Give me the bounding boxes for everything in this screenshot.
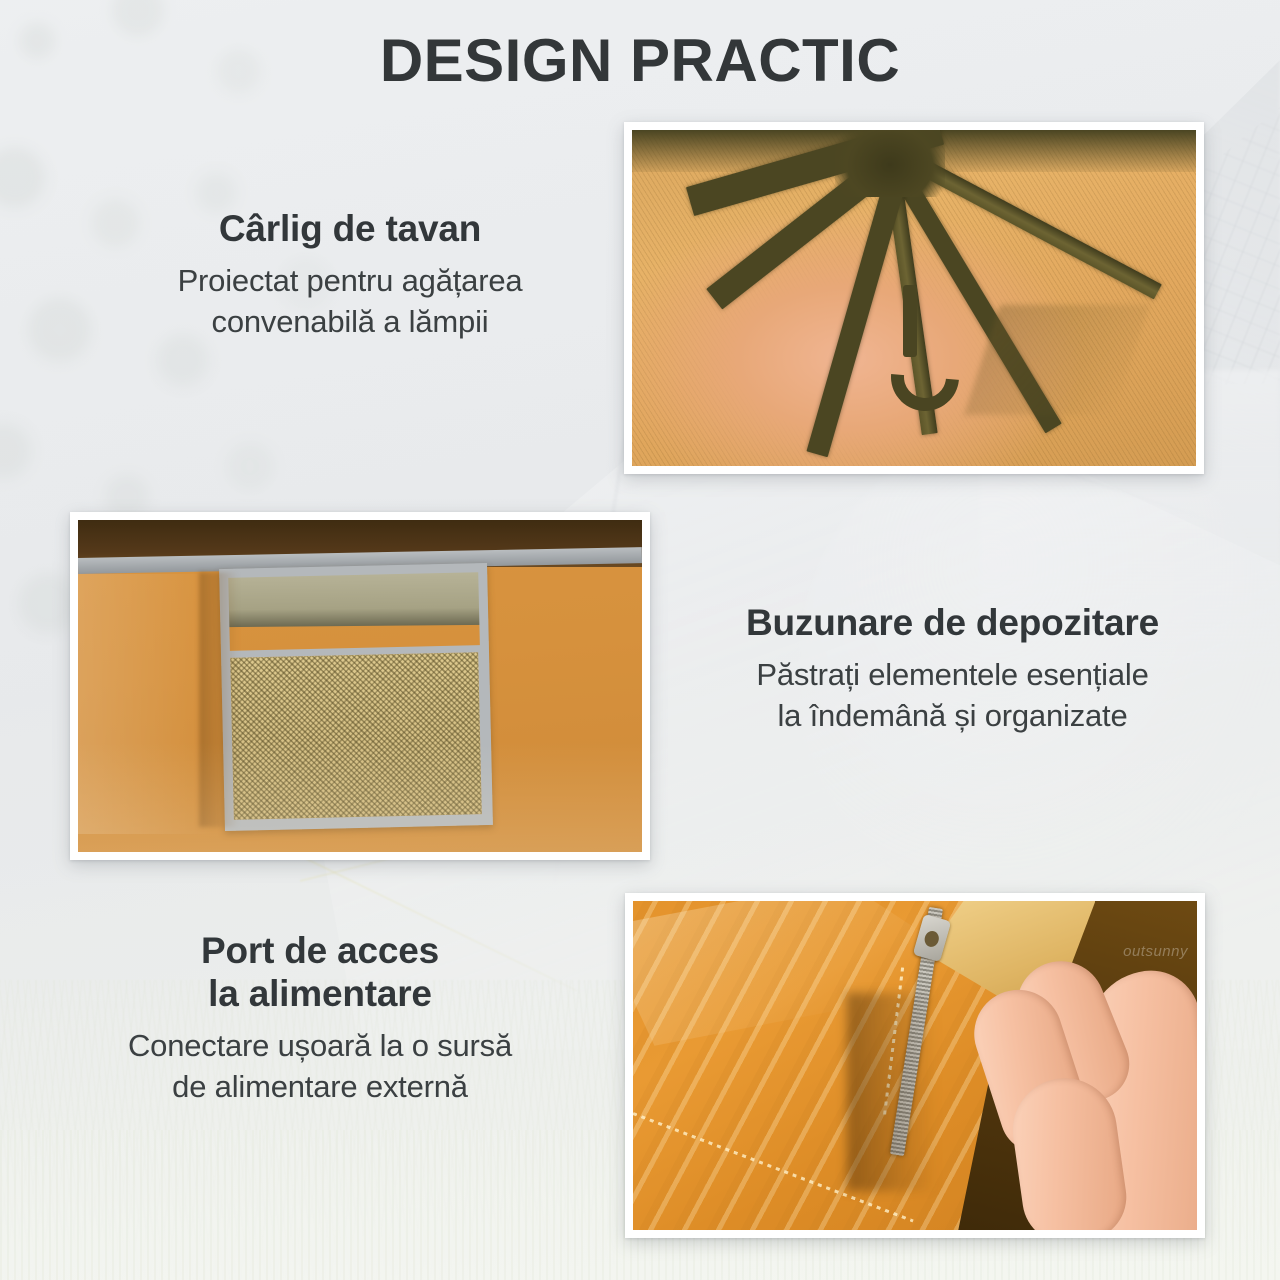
hand-shadow xyxy=(847,993,937,1190)
feature-text-storage-pockets: Buzunare de depozitare Păstrați elemente… xyxy=(655,602,1250,737)
feature-text-power-port: Port de acces la alimentare Conectare uș… xyxy=(30,930,610,1108)
feature-heading-storage-pockets: Buzunare de depozitare xyxy=(655,602,1250,645)
power-access-port-photo: outsunny xyxy=(633,901,1197,1230)
tent-wall-sheen xyxy=(78,742,642,852)
feature-heading-ceiling-hook: Cârlig de tavan xyxy=(45,208,655,251)
feature-subtext-storage-pockets: Păstrați elementele esențiale la îndemân… xyxy=(655,655,1250,737)
photo-frame-power-port: outsunny xyxy=(625,893,1205,1238)
feature-subtext-ceiling-hook: Proiectat pentru agățarea convenabilă a … xyxy=(45,261,655,343)
hand xyxy=(960,954,1197,1230)
tent-strap-apex xyxy=(835,130,945,197)
storage-pocket-photo xyxy=(78,520,642,852)
page-title: DESIGN PRACTIC xyxy=(0,26,1280,95)
brand-watermark: outsunny xyxy=(1123,943,1188,960)
ceiling-hook-photo xyxy=(632,130,1196,466)
feature-heading-power-port: Port de acces la alimentare xyxy=(30,930,610,1016)
feature-subtext-power-port: Conectare ușoară la o sursă de alimentar… xyxy=(30,1026,610,1108)
feature-text-ceiling-hook: Cârlig de tavan Proiectat pentru agățare… xyxy=(45,208,655,343)
ceiling-hook-icon xyxy=(889,285,945,405)
photo-frame-ceiling-hook xyxy=(624,122,1204,474)
photo-frame-storage-pocket xyxy=(70,512,650,860)
